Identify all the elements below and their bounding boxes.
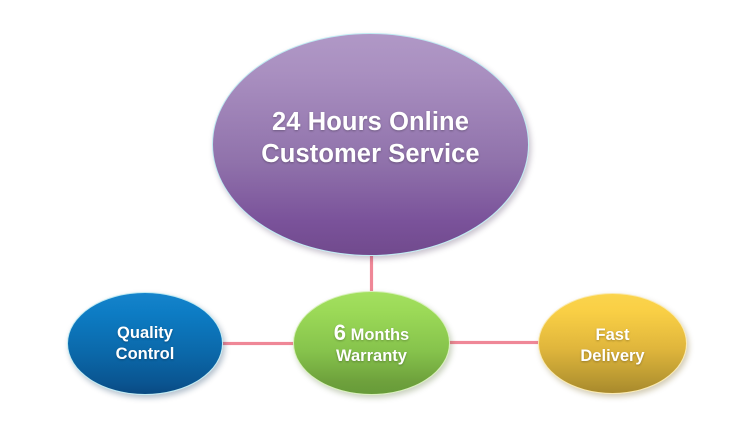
node-customer-service[interactable]: 24 Hours Online Customer Service (212, 33, 529, 256)
diagram-canvas: 24 Hours Online Customer Service Quality… (0, 0, 750, 446)
node-fast-delivery-label: Fast Delivery (580, 325, 644, 365)
node-quality-control[interactable]: Quality Control (67, 292, 223, 395)
connector-warranty-to-delivery (440, 341, 544, 344)
node-quality-control-label: Quality Control (116, 323, 175, 363)
node-warranty-label: 6 MonthsWarranty (334, 322, 410, 365)
node-customer-service-label: 24 Hours Online Customer Service (235, 107, 505, 169)
node-warranty-line2: Warranty (336, 347, 407, 365)
node-warranty-unit: Months (346, 326, 409, 344)
node-fast-delivery[interactable]: Fast Delivery (538, 293, 687, 394)
node-warranty[interactable]: 6 MonthsWarranty (293, 291, 450, 395)
node-warranty-number: 6 (334, 320, 346, 345)
